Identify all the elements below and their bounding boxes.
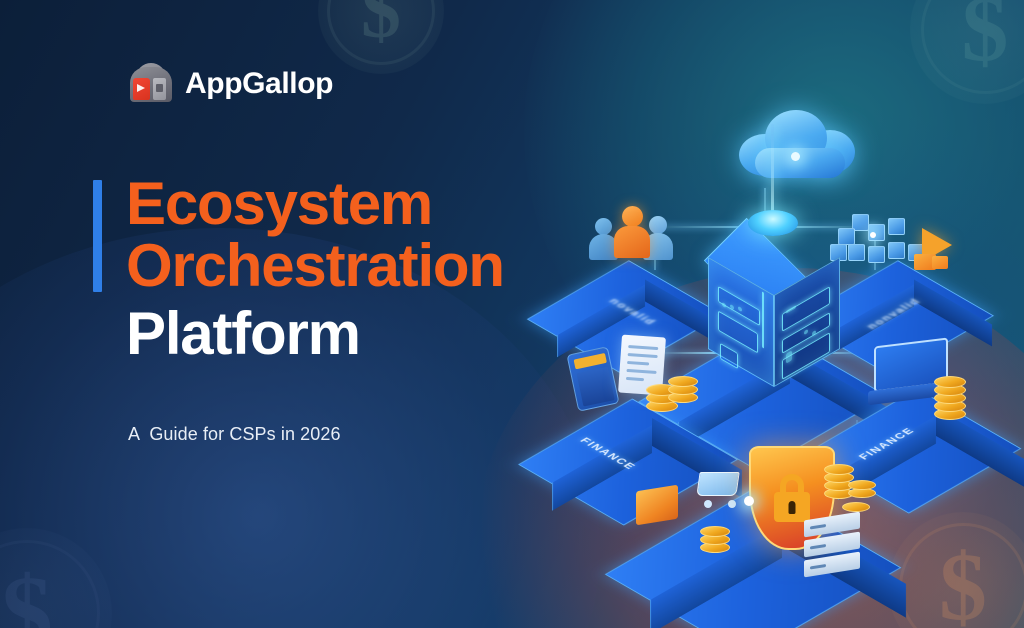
glow-sparkle-icon bbox=[744, 496, 754, 506]
parcel-box-icon bbox=[636, 485, 678, 526]
hero-banner: $ $ $ $ AppGallop Ecosystem Orchestratio… bbox=[0, 0, 1024, 628]
shopping-cart-icon bbox=[692, 464, 744, 508]
cloud-icon bbox=[731, 104, 863, 184]
page-title: Ecosystem Orchestration Platform bbox=[126, 173, 586, 364]
people-icon-highlight bbox=[614, 206, 650, 258]
title-accent-bar bbox=[93, 180, 102, 292]
server-rack-icon bbox=[804, 516, 860, 574]
title-line-3: Platform bbox=[126, 303, 586, 365]
brand-logo[interactable]: AppGallop bbox=[128, 62, 333, 106]
title-line-2: Orchestration bbox=[126, 235, 586, 297]
page-subtitle: A Guide for CSPs in 2026 bbox=[128, 424, 341, 445]
appgallop-gate-logo-icon bbox=[128, 62, 174, 106]
brand-name: AppGallop bbox=[185, 69, 333, 99]
hero-illustration: novalid nonvalid bbox=[536, 96, 1024, 628]
parcel-box-icon bbox=[932, 256, 948, 269]
title-line-1: Ecosystem bbox=[126, 173, 586, 235]
